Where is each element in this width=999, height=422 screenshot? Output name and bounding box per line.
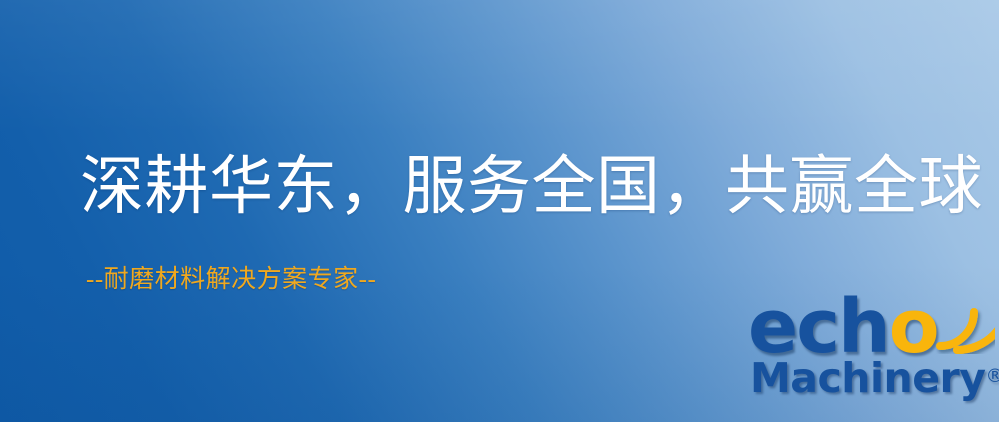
registered-trademark-icon: ® xyxy=(985,365,999,387)
hero-banner: 深耕华东，服务全国，共赢全球 --耐磨材料解决方案专家-- echo Mac xyxy=(0,0,999,422)
banner-headline: 深耕华东，服务全国，共赢全球 xyxy=(80,152,983,221)
logo-tagline: Machinery® xyxy=(750,358,999,399)
logo-tagline-text: Machinery xyxy=(750,354,985,402)
signal-waves-icon xyxy=(931,292,995,354)
company-logo[interactable]: echo Machinery® xyxy=(748,296,994,418)
logo-brand-text: echo xyxy=(748,290,938,364)
banner-subtitle: --耐磨材料解决方案专家-- xyxy=(86,266,376,294)
